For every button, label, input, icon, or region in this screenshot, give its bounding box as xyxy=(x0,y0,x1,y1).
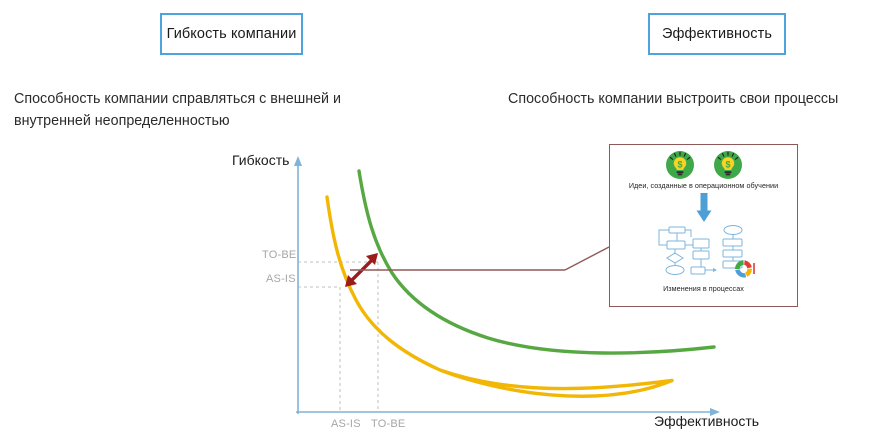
pdca-cycle-icon xyxy=(735,260,754,277)
title-box-flexibility[interactable]: Гибкость компании xyxy=(160,13,303,55)
svg-text:$: $ xyxy=(677,160,682,170)
callout-panel[interactable]: $ $ Идеи, созданные в операционном обуче… xyxy=(609,144,798,307)
x-axis-title: Эффективность xyxy=(654,413,759,429)
inset-caption-changes: Изменения в процессах xyxy=(610,284,797,293)
x-tick-label-to-be: TO-BE xyxy=(371,418,405,430)
lightbulb-idea-icon-1: $ xyxy=(664,149,696,181)
title-box-flexibility-label: Гибкость компании xyxy=(167,26,297,42)
description-flexibility: Способность компании справляться с внешн… xyxy=(14,88,434,132)
idea-bulb-row: $ $ xyxy=(610,149,797,181)
y-tick-label-to-be: TO-BE xyxy=(262,249,296,261)
y-tick-label-as-is: AS-IS xyxy=(266,273,296,285)
lightbulb-idea-icon-2: $ xyxy=(712,149,744,181)
svg-text:$: $ xyxy=(725,160,730,170)
chart-gridlines xyxy=(298,262,378,410)
slide-canvas: Гибкость компании Эффективность Способно… xyxy=(0,0,890,437)
inset-caption-ideas: Идеи, созданные в операционном обучении xyxy=(610,181,797,190)
y-axis-title: Гибкость xyxy=(232,152,289,168)
title-box-efficiency-label: Эффективность xyxy=(662,26,772,42)
description-efficiency: Способность компании выстроить свои проц… xyxy=(508,88,890,110)
y-axis-arrowhead xyxy=(294,156,302,166)
down-arrow-icon xyxy=(694,193,714,223)
process-flowchart-icon xyxy=(653,225,757,281)
x-tick-label-as-is: AS-IS xyxy=(331,418,361,430)
title-box-efficiency[interactable]: Эффективность xyxy=(648,13,786,55)
